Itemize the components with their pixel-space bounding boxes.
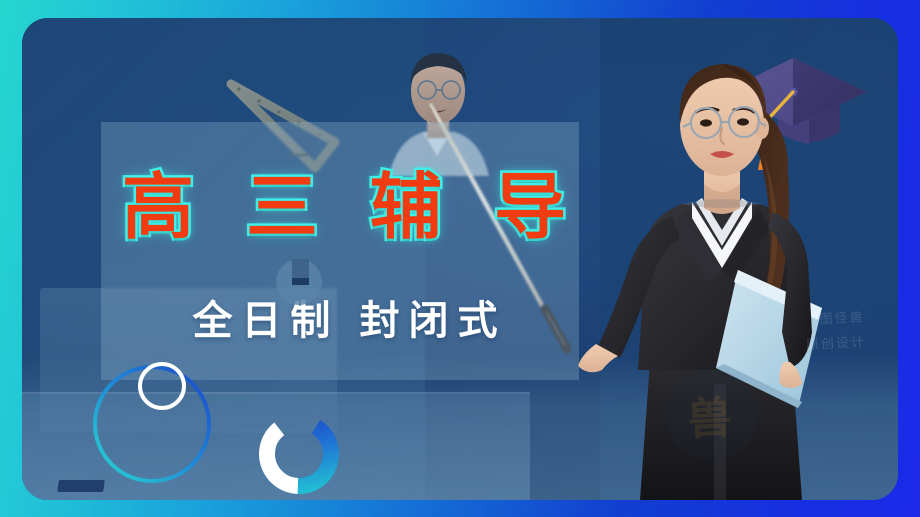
page-title: 高 三 辅 导: [122, 172, 577, 244]
poster-frame: 高 三 辅 导 全日制 封闭式: [0, 0, 920, 517]
watermark-glyph: 兽: [687, 396, 735, 442]
decorative-donut-chart: [255, 410, 343, 498]
watermark: 图怪兽 原创设计 兽: [674, 305, 872, 465]
poster-stage: 高 三 辅 导 全日制 封闭式: [22, 18, 898, 500]
decorative-ring-small: [138, 362, 186, 410]
page-subtitle: 全日制 封闭式: [122, 301, 577, 341]
donut-center-chip: [292, 259, 309, 285]
decorative-bar: [57, 480, 105, 492]
